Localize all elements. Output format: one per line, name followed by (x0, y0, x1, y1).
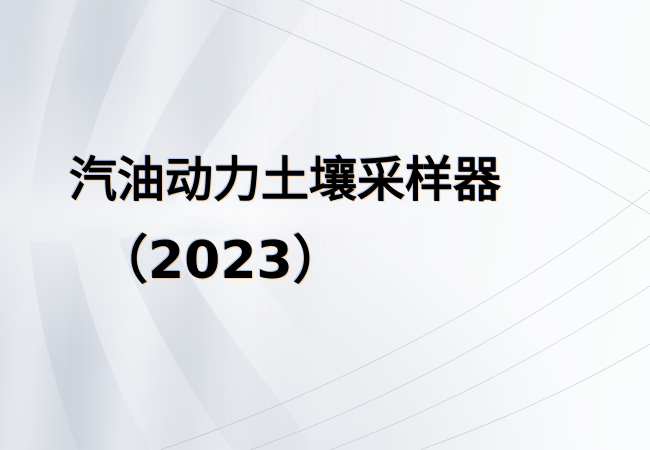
banner-title-block: 汽油动力土壤采样器 （2023） (0, 0, 650, 450)
banner-title-line-1: 汽油动力土壤采样器 (69, 156, 501, 204)
banner-title-line-2: （2023） (96, 235, 345, 287)
title-banner: 汽油动力土壤采样器 （2023） (0, 0, 650, 450)
